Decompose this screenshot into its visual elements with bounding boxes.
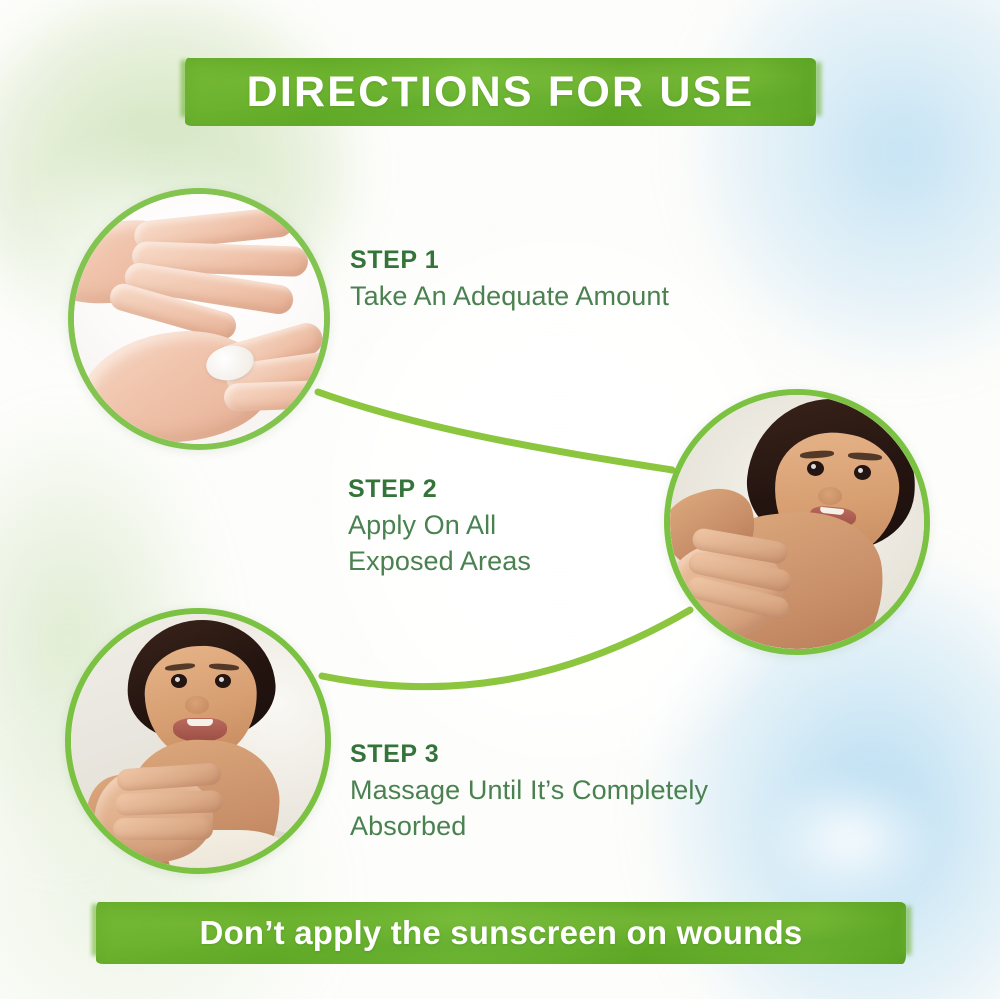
caregiver-finger-2 (115, 790, 224, 816)
connector-step2-to-step3 (322, 610, 690, 687)
step-2-image-circle (664, 389, 930, 655)
baby-nose (185, 696, 209, 714)
step-2-description-line-2: Exposed Areas (348, 544, 531, 580)
baby-eye-right (854, 465, 871, 480)
step-3-description-line-1: Massage Until It’s Completely (350, 773, 708, 809)
infographic-canvas: DIRECTIONS FOR USE (0, 0, 1000, 999)
step-3-image-circle (65, 608, 331, 874)
step-2-text: STEP 2 Apply On All Exposed Areas (348, 477, 531, 579)
baby-eye-highlight-left (811, 464, 816, 469)
title-banner: DIRECTIONS FOR USE (185, 58, 816, 126)
step-3-number: STEP 3 (350, 742, 708, 767)
baby-eye-highlight-left (175, 677, 180, 682)
step-3-text: STEP 3 Massage Until It’s Completely Abs… (350, 742, 708, 844)
step-2-description-line-1: Apply On All (348, 508, 531, 544)
baby-eye-left (807, 461, 824, 476)
footer-note: Don’t apply the sunscreen on wounds (200, 914, 803, 952)
page-title: DIRECTIONS FOR USE (247, 68, 755, 117)
baby-lying-down-photo (670, 395, 924, 649)
connector-step1-to-step2 (318, 392, 672, 470)
step-1-description: Take An Adequate Amount (350, 279, 669, 315)
baby-nose (818, 487, 842, 505)
lower-hand-finger-3 (224, 380, 323, 411)
caregiver-finger-3 (113, 818, 213, 840)
baby-smiling-photo (71, 614, 325, 868)
step-3-description-line-2: Absorbed (350, 809, 708, 845)
step-1-number: STEP 1 (350, 248, 669, 273)
baby-eye-highlight-right (219, 677, 224, 682)
footer-banner: Don’t apply the sunscreen on wounds (96, 902, 906, 964)
step-2-number: STEP 2 (348, 477, 531, 502)
step-1-image-circle (68, 188, 330, 450)
baby-teeth (187, 719, 213, 726)
hands-applying-cream-photo (74, 194, 324, 444)
baby-eye-highlight-right (858, 468, 863, 473)
step-1-text: STEP 1 Take An Adequate Amount (350, 248, 669, 315)
